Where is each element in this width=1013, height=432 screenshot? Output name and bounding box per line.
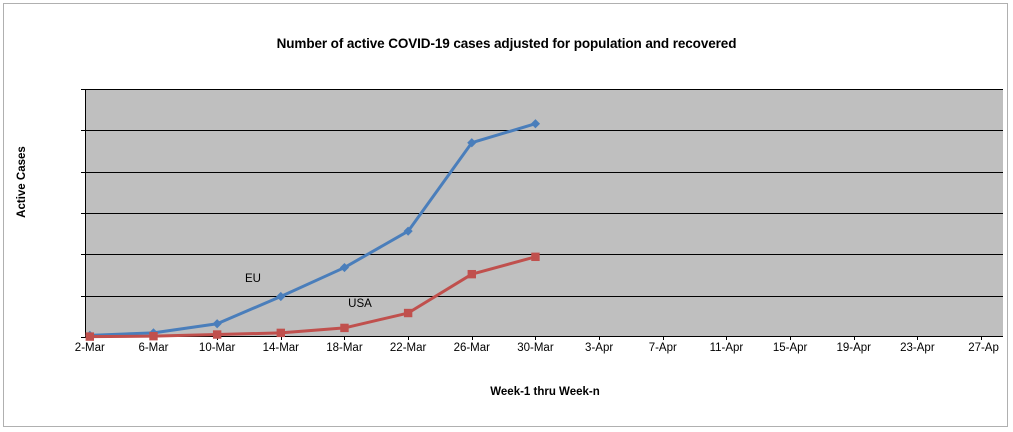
x-axis-title: Week-1 thru Week-n <box>86 386 1004 398</box>
series-layer <box>86 89 1004 337</box>
data-point-usa <box>213 330 221 338</box>
data-point-eu <box>531 119 540 128</box>
x-tick-label: 15-Apr <box>773 342 808 354</box>
x-tick-label: 18-Mar <box>326 342 362 354</box>
y-axis-title: Active Cases <box>16 102 28 262</box>
x-tick-label: 14-Mar <box>263 342 299 354</box>
x-tick-label: 23-Apr <box>900 342 935 354</box>
data-point-usa <box>149 332 157 340</box>
data-point-eu <box>213 319 222 328</box>
series-line-eu <box>90 124 536 336</box>
x-tick-label: 11-Apr <box>710 342 744 354</box>
x-tick-label: 27-Ap <box>968 342 999 354</box>
chart-frame: Number of active COVID-19 cases adjusted… <box>3 3 1008 427</box>
x-tick-label: 2-Mar <box>75 342 105 354</box>
y-tick-mark <box>81 337 86 338</box>
data-point-eu <box>276 292 285 301</box>
data-point-usa <box>86 332 94 340</box>
data-point-usa <box>531 253 539 261</box>
data-point-usa <box>277 329 285 337</box>
series-line-usa <box>90 257 536 337</box>
plot-area: 050000100000150000200000250000300000 2-M… <box>85 89 1003 337</box>
data-point-usa <box>340 324 348 332</box>
series-label-eu: EU <box>245 273 261 285</box>
chart-title: Number of active COVID-19 cases adjusted… <box>4 36 1009 51</box>
data-point-usa <box>468 270 476 278</box>
x-tick-label: 19-Apr <box>836 342 871 354</box>
data-point-usa <box>404 309 412 317</box>
x-tick-label: 3-Apr <box>585 342 613 354</box>
series-label-usa: USA <box>348 298 372 310</box>
x-tick-label: 7-Apr <box>649 342 677 354</box>
x-tick-label: 30-Mar <box>517 342 553 354</box>
x-tick-label: 6-Mar <box>138 342 168 354</box>
x-tick-label: 26-Mar <box>454 342 490 354</box>
x-tick-label: 22-Mar <box>390 342 426 354</box>
x-tick-label: 10-Mar <box>199 342 235 354</box>
